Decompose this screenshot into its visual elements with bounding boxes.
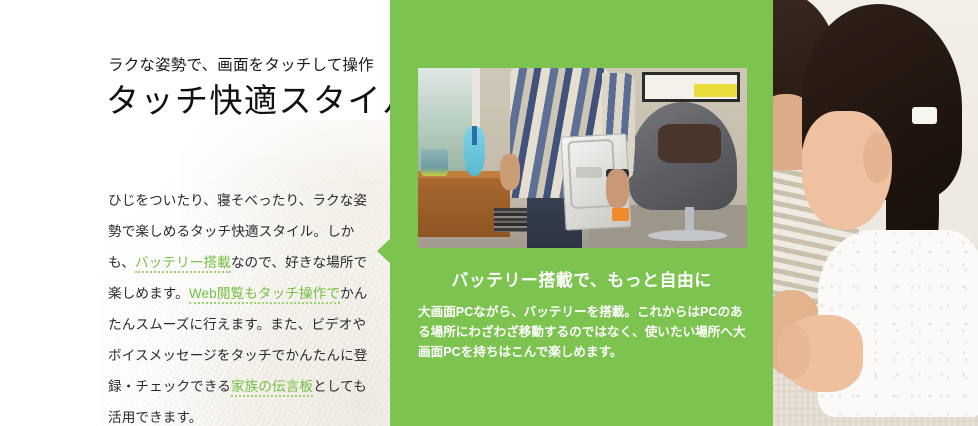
child-front-hand xyxy=(777,324,810,379)
left-content-panel: ラクな姿勢で、画面をタッチして操作 タッチ快適スタイル ひじをついたり、寝そべっ… xyxy=(0,0,390,426)
highlight-battery[interactable]: バッテリー搭載 xyxy=(135,255,231,273)
highlight-web-touch[interactable]: Web閲覧もタッチ操作で xyxy=(189,286,340,304)
kicker-text: ラクな姿勢で、画面をタッチして操作 xyxy=(108,56,390,76)
photo-chair-cushion xyxy=(658,124,721,164)
feature-description: 大画面PCながら、バッテリーを搭載。これからはPCのある場所にわざわざ移動するの… xyxy=(418,302,748,362)
right-photo-children xyxy=(773,0,978,426)
feature-photo xyxy=(418,68,747,248)
photo-orange-accessory xyxy=(612,208,628,221)
photo-chair-base xyxy=(648,230,727,241)
photo-chair-stem xyxy=(685,207,695,232)
highlight-family-board[interactable]: 家族の伝言板 xyxy=(231,379,313,397)
feature-title: バッテリー搭載で、もっと自由に xyxy=(390,266,773,291)
feature-green-panel: バッテリー搭載で、もっと自由に 大画面PCながら、バッテリーを搭載。これからはP… xyxy=(390,0,773,426)
child-front-hair-tie xyxy=(912,107,937,124)
page-title: タッチ快適スタイル xyxy=(106,82,390,121)
photo-vase-blue-stripe xyxy=(472,126,477,146)
panel-pointer-arrow-icon xyxy=(377,238,391,264)
promo-banner: ラクな姿勢で、画面をタッチして操作 タッチ快適スタイル ひじをついたり、寝そべっ… xyxy=(0,0,978,426)
photo-scene-living-room xyxy=(418,68,747,248)
photo-person-right-hand xyxy=(606,169,629,209)
photo-wall-art-accent xyxy=(694,84,737,97)
photo-person-left-hand xyxy=(500,154,520,190)
child-front-ear xyxy=(863,132,892,183)
photo-tablet-logo xyxy=(576,167,602,178)
body-copy: ひじをついたり、寝そべったり、ラクな姿勢で楽しめるタッチ快適スタイル。しかも、バ… xyxy=(108,185,370,426)
photo-vase-green xyxy=(421,149,447,176)
